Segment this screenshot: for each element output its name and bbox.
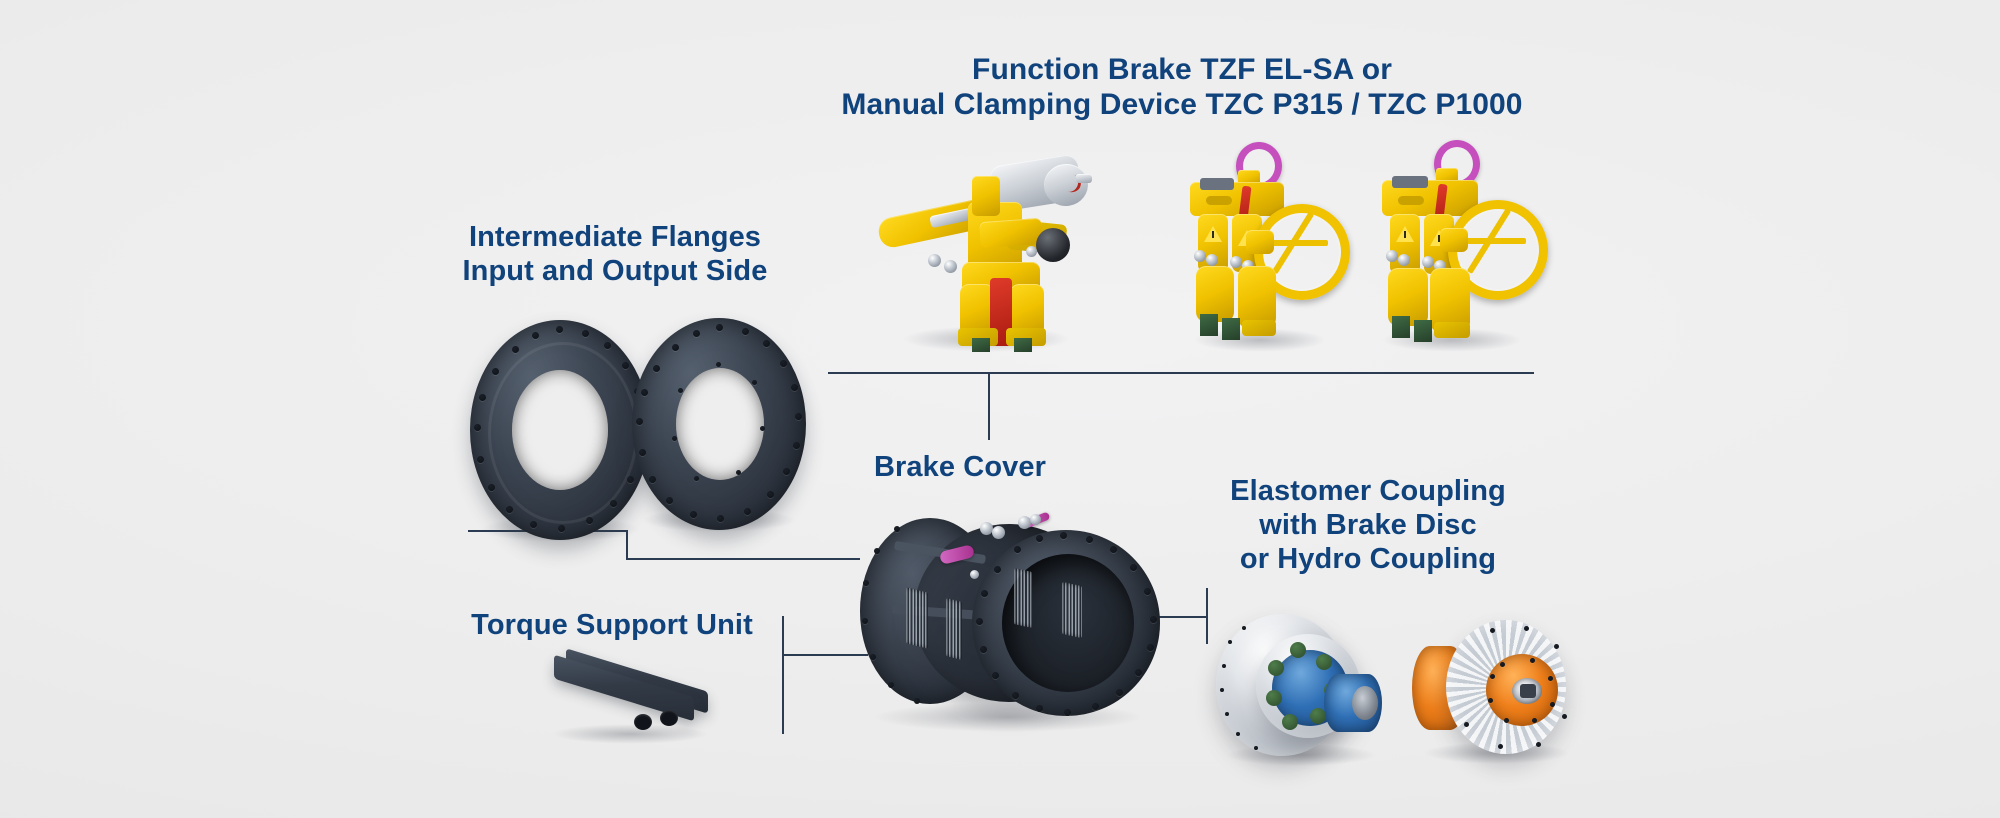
leader-line-flanges-right — [626, 558, 860, 560]
part-torque-support-unit-bars — [548, 662, 718, 744]
title-function-brake: Function Brake TZF EL-SA or Manual Clamp… — [826, 52, 1538, 123]
label-elastomer-coupling: Elastomer Coupling with Brake Disc or Hy… — [1218, 474, 1518, 577]
label-brake-cover: Brake Cover — [830, 450, 1090, 484]
ventilation-grille — [1014, 568, 1032, 628]
ventilation-grille — [906, 587, 928, 648]
label-torque-support-unit: Torque Support Unit — [452, 608, 772, 642]
ventilation-grille — [1062, 582, 1082, 638]
ventilation-grille — [946, 598, 962, 660]
leader-line-top-stem — [988, 372, 990, 440]
part-elastomer-coupling-with-brake-disc — [1216, 612, 1386, 764]
part-brake-cover-housing — [854, 512, 1166, 728]
leader-line-coupling-stem — [1206, 588, 1208, 644]
part-hydro-coupling — [1412, 618, 1580, 760]
adjustment-knob — [1036, 228, 1070, 262]
leader-line-top-horizontal — [828, 372, 1534, 374]
label-intermediate-flanges: Intermediate Flanges Input and Output Si… — [370, 220, 860, 288]
part-intermediate-flange-input-side — [470, 320, 650, 540]
part-manual-clamping-device-tzc-p315 — [1180, 142, 1340, 360]
part-intermediate-flange-output-side — [632, 318, 806, 530]
part-manual-clamping-device-tzc-p1000 — [1368, 140, 1536, 360]
part-function-brake-tzf-el-sa — [876, 150, 1096, 360]
leader-line-torque-stem — [782, 616, 784, 734]
diagram-canvas: Function Brake TZF EL-SA or Manual Clamp… — [0, 0, 2000, 818]
